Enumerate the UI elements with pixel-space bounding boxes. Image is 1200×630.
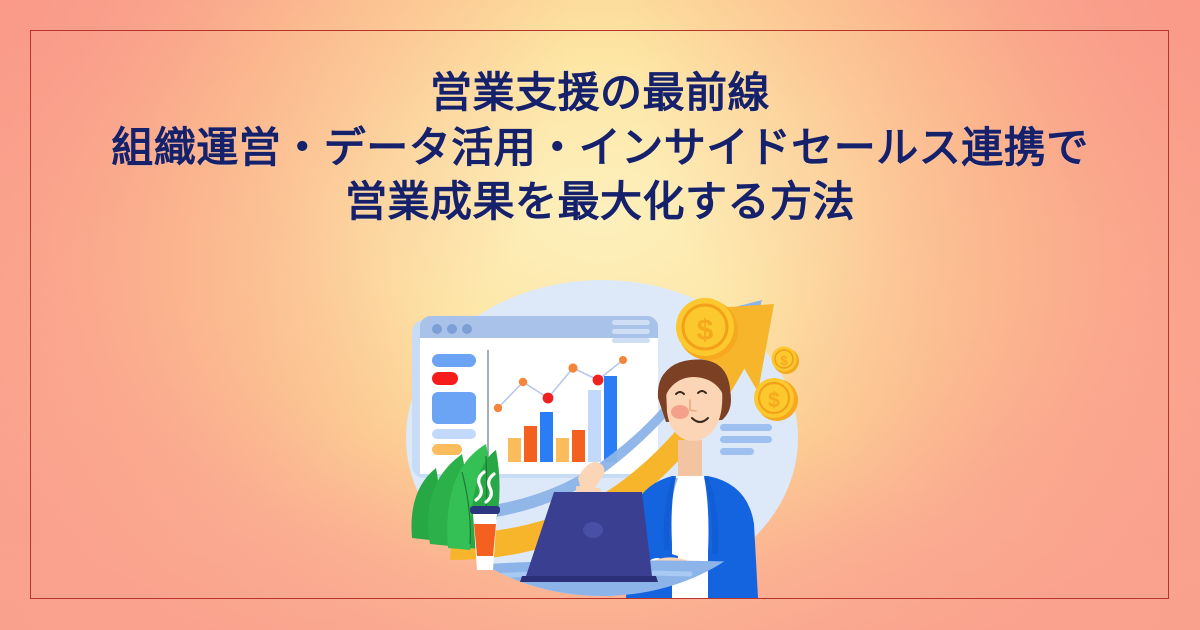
ogp-card: $ $ $ bbox=[0, 0, 1200, 630]
bar-2 bbox=[524, 426, 537, 462]
cheek bbox=[671, 405, 689, 419]
bar-5 bbox=[572, 430, 585, 462]
window-dot-2 bbox=[447, 324, 457, 334]
line-point-5 bbox=[593, 375, 604, 386]
bar-1 bbox=[508, 438, 521, 462]
business-growth-illustration: $ $ $ bbox=[390, 272, 810, 598]
bar-7 bbox=[604, 376, 617, 462]
svg-text:$: $ bbox=[697, 314, 714, 347]
line-point-2 bbox=[519, 378, 527, 386]
line-point-3 bbox=[543, 393, 554, 404]
title-line-1: 営業支援の最前線 bbox=[0, 66, 1200, 121]
sidebar-block-3 bbox=[432, 392, 476, 424]
line-point-4 bbox=[568, 363, 577, 372]
window-menu-lines bbox=[612, 320, 650, 343]
sidebar-block-5 bbox=[432, 444, 462, 455]
sidebar-block-1 bbox=[432, 354, 476, 367]
svg-text:$: $ bbox=[780, 353, 788, 368]
line-point-1 bbox=[494, 404, 502, 412]
line-point-6 bbox=[619, 356, 627, 364]
bar-6 bbox=[588, 390, 601, 462]
bar-3 bbox=[540, 412, 553, 462]
title-line-2: 組織運営・データ活用・インサイドセールス連携で bbox=[0, 121, 1200, 176]
page-title: 営業支援の最前線 組織運営・データ活用・インサイドセールス連携で 営業成果を最大… bbox=[0, 66, 1200, 230]
title-line-3: 営業成果を最大化する方法 bbox=[0, 175, 1200, 230]
bar-4 bbox=[556, 438, 569, 462]
window-dot-1 bbox=[432, 324, 442, 334]
svg-text:$: $ bbox=[768, 389, 780, 412]
sidebar-block-2 bbox=[432, 372, 458, 385]
window-dot-3 bbox=[462, 324, 472, 334]
sidebar-block-4 bbox=[432, 429, 476, 439]
